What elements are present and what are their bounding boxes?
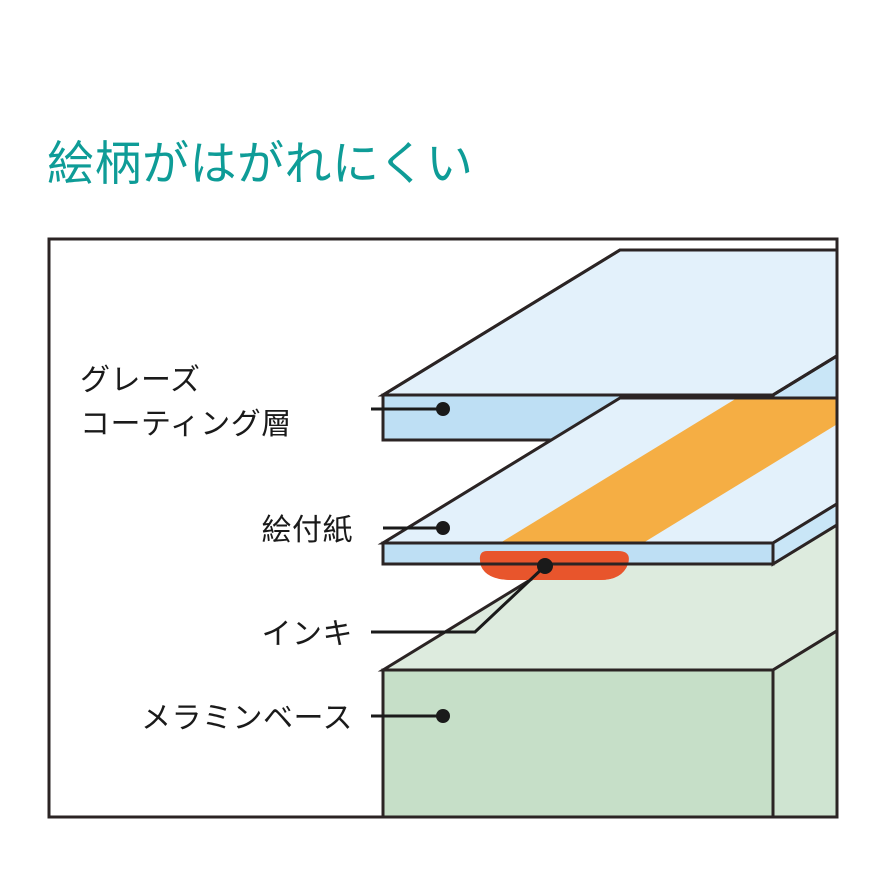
- leader-dot-ink: [537, 558, 553, 574]
- leader-dot-glaze: [436, 402, 450, 416]
- label-glaze-line2: コーティング層: [80, 408, 292, 441]
- label-glaze-line1: グレーズ: [80, 364, 201, 397]
- label-base: メラミンベース: [141, 702, 353, 735]
- label-paper: 絵付紙: [262, 514, 354, 547]
- leader-dot-paper: [436, 521, 450, 535]
- melamine-base-front-face: [383, 670, 773, 886]
- label-ink: インキ: [262, 618, 354, 651]
- layer-structure-diagram: グレーズ コーティング層 絵付紙 インキ メラミンベース: [0, 0, 886, 886]
- leader-dot-base: [436, 709, 450, 723]
- glaze-coating-side-orange-stripe: [840, 296, 886, 418]
- page-root: 絵柄がはがれにくい ミラー成形法: [0, 0, 886, 886]
